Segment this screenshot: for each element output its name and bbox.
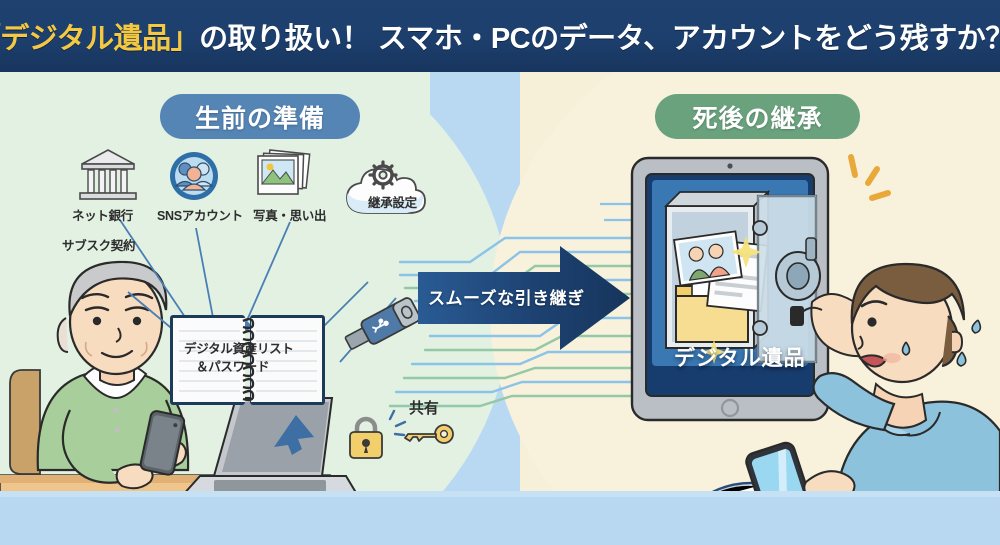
page-title: 【「デジタル遺品」の取り扱い！ スマホ・PCのデータ、アカウントをどう残すか？】 [0, 15, 1000, 57]
infographic-root: 【「デジタル遺品」の取り扱い！ スマホ・PCのデータ、アカウントをどう残すか？】 [0, 0, 1000, 545]
young-man-scene [0, 70, 1000, 545]
title-highlight: 「デジタル遺品」 [0, 23, 199, 55]
title-rest: の取り扱い！ スマホ・PCのデータ、アカウントをどう残すか？ [199, 23, 1000, 55]
illustration-canvas: ネット銀行 SNSアカウント 写真・思い出 継承設定 サブスク契約 デジタル資産… [0, 70, 1000, 545]
title-bar: 【「デジタル遺品」の取り扱い！ スマホ・PCのデータ、アカウントをどう残すか？】 [0, 0, 1000, 72]
bottom-strip [0, 497, 1000, 545]
